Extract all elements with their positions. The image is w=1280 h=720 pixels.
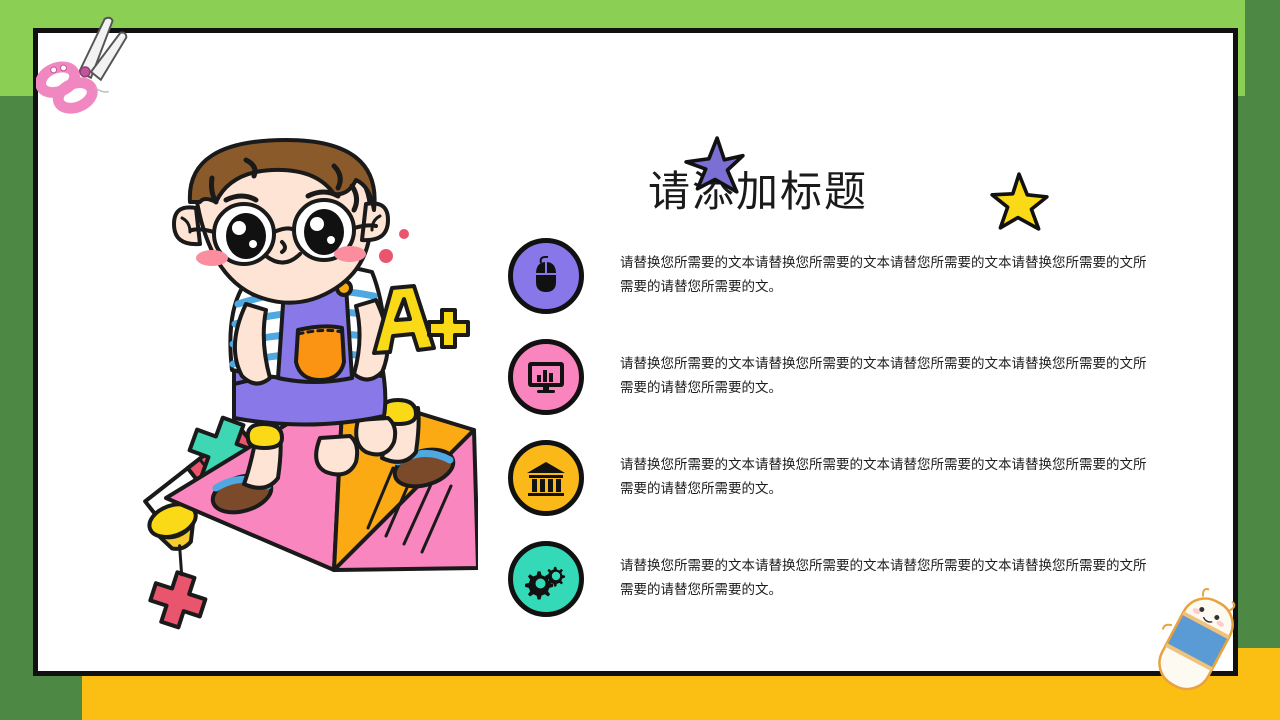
bullet-circle-monitor-chart[interactable] [508,339,584,415]
scissors-icon [36,11,144,119]
page-title: 请添加标题 [648,171,868,213]
slide-card: 请添加标题 请替换您所需要的文本请替换 [33,28,1238,676]
eraser-icon [1139,583,1269,713]
list-item-text: 请替换您所需要的文本请替换您所需要的文本请替您所需要的文本请替换您所需要的文所需… [620,252,1150,299]
list-item[interactable]: 请替换您所需要的文本请替换您所需要的文本请替您所需要的文本请替换您所需要的文所需… [508,528,1208,629]
bullet-circle-bank[interactable] [508,440,584,516]
list-item[interactable]: 请替换您所需要的文本请替换您所需要的文本请替您所需要的文本请替换您所需要的文所需… [508,427,1208,528]
title-row: 请添加标题 [508,123,1208,213]
star-purple-icon [683,135,745,197]
slide-canvas: 请添加标题 请替换您所需要的文本请替换 [0,0,1280,720]
list-item-text: 请替换您所需要的文本请替换您所需要的文本请替您所需要的文本请替换您所需要的文所需… [620,555,1150,602]
list-item-text: 请替换您所需要的文本请替换您所需要的文本请替您所需要的文本请替换您所需要的文所需… [620,353,1150,400]
bullet-circle-mouse[interactable] [508,238,584,314]
list-item-text: 请替换您所需要的文本请替换您所需要的文本请替您所需要的文本请替换您所需要的文所需… [620,454,1150,501]
gears-icon [525,558,567,600]
bullet-circle-gears[interactable] [508,541,584,617]
bullet-list: 请替换您所需要的文本请替换您所需要的文本请替您所需要的文本请替换您所需要的文所需… [508,225,1208,629]
list-item[interactable]: 请替换您所需要的文本请替换您所需要的文本请替您所需要的文本请替换您所需要的文所需… [508,225,1208,326]
bank-icon [525,457,567,499]
content-column: 请添加标题 请替换您所需要的文本请替换 [508,123,1208,653]
list-item[interactable]: 请替换您所需要的文本请替换您所需要的文本请替您所需要的文本请替换您所需要的文所需… [508,326,1208,427]
star-yellow-icon [988,170,1050,232]
mouse-icon [526,256,566,296]
monitor-chart-icon [525,356,567,398]
boy-on-paper-plane-illustration [138,138,478,638]
